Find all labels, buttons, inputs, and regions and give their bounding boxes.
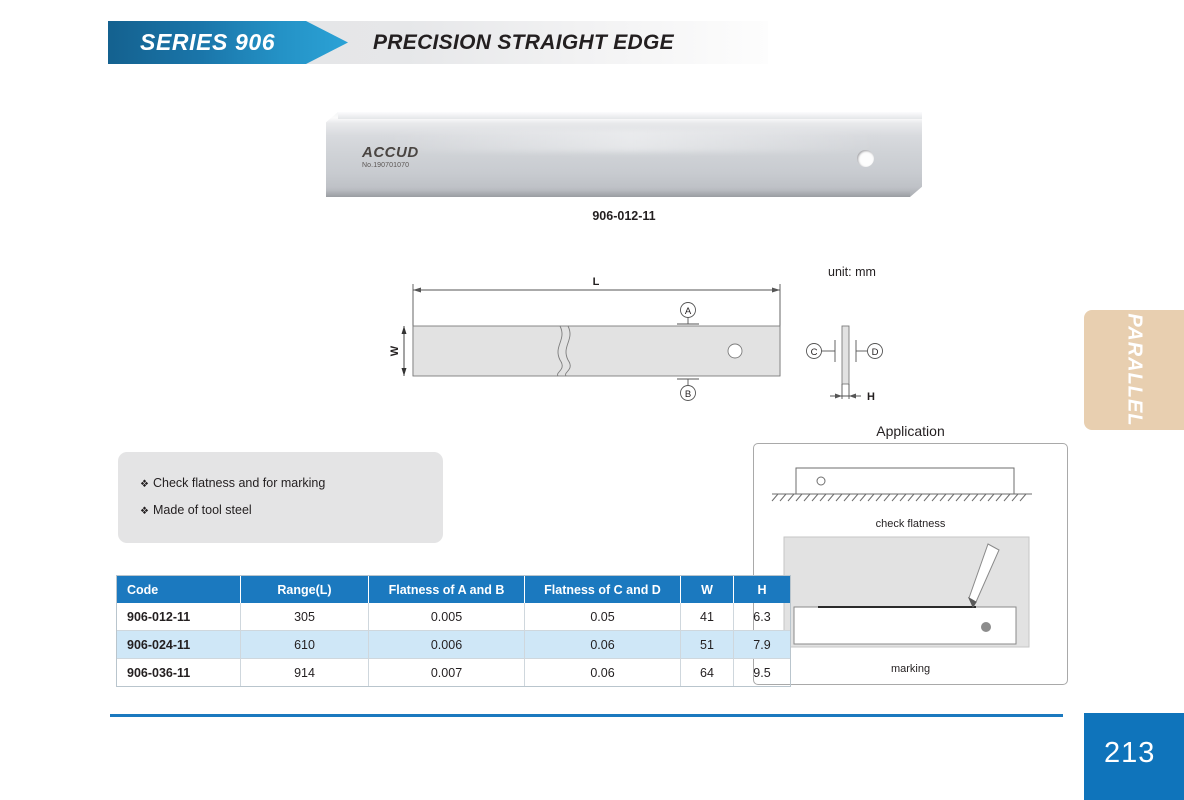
features-box: ❖Check flatness and for marking ❖Made of…	[118, 452, 443, 543]
front-view-hole	[728, 344, 742, 358]
feature-item: ❖Check flatness and for marking	[140, 476, 325, 490]
application-box: check flatness marking	[753, 443, 1068, 685]
table-header-cell: Range(L)	[241, 576, 369, 603]
callout-a: A	[677, 303, 699, 325]
table-cell-flatness-cd: 0.06	[525, 659, 681, 687]
table-header-cell: W	[681, 576, 734, 603]
table-cell-range: 305	[241, 603, 369, 631]
width-arrow-top	[402, 326, 407, 334]
product-photo: ACCUD No.190701070	[326, 112, 922, 197]
table-header-cell: H	[734, 576, 791, 603]
table-header-row: Code Range(L) Flatness of A and B Flatne…	[117, 576, 790, 603]
table-cell-w: 51	[681, 631, 734, 659]
application-title: Application	[753, 423, 1068, 439]
series-label: SERIES 906	[140, 21, 275, 64]
table-cell-flatness-ab: 0.005	[369, 603, 525, 631]
feature-text: Check flatness and for marking	[153, 476, 325, 490]
side-tab-label: PARALLEL	[1123, 313, 1146, 426]
marking-diagram	[784, 537, 1029, 647]
table-cell-code: 906-012-11	[117, 603, 241, 631]
front-view-body	[413, 326, 780, 376]
callout-d: D	[856, 340, 883, 362]
table-row: 906-024-11 610 0.006 0.06 51 7.9	[117, 631, 790, 659]
footer-rule	[110, 714, 1063, 717]
table-cell-h: 6.3	[734, 603, 791, 631]
technical-drawing: L W A B C D	[390, 258, 910, 423]
table-row: 906-036-11 914 0.007 0.06 64 9.5	[117, 659, 790, 687]
table-cell-w: 64	[681, 659, 734, 687]
table-header-cell: Code	[117, 576, 241, 603]
table-header-cell: Flatness of C and D	[525, 576, 681, 603]
page-title: PRECISION STRAIGHT EDGE	[373, 21, 674, 64]
callout-b: B	[677, 379, 699, 401]
width-label: W	[390, 345, 401, 356]
page-number-box: 213	[1084, 713, 1184, 800]
table-cell-range: 914	[241, 659, 369, 687]
length-arrow-left	[413, 288, 421, 293]
feature-item: ❖Made of tool steel	[140, 503, 252, 517]
straight-edge-sheen	[381, 130, 881, 152]
feature-text: Made of tool steel	[153, 503, 252, 517]
page-number: 213	[1104, 737, 1155, 770]
table-cell-code: 906-036-11	[117, 659, 241, 687]
side-view-body	[842, 326, 849, 384]
callout-c: C	[807, 340, 836, 362]
table-row: 906-012-11 305 0.005 0.05 41 6.3	[117, 603, 790, 631]
straight-edge-top-bevel	[338, 112, 922, 119]
table-cell-flatness-ab: 0.007	[369, 659, 525, 687]
table-cell-flatness-ab: 0.006	[369, 631, 525, 659]
application-caption: check flatness	[754, 518, 1067, 530]
callout-d-label: D	[872, 347, 879, 358]
brand-block: ACCUD No.190701070	[362, 145, 419, 169]
length-arrow-right	[772, 288, 780, 293]
product-caption: 906-012-11	[326, 209, 922, 223]
table-cell-code: 906-024-11	[117, 631, 241, 659]
brand-serial-number: No.190701070	[362, 162, 419, 169]
straight-edge-bottom-bevel	[326, 191, 910, 197]
table-cell-h: 9.5	[734, 659, 791, 687]
table-cell-w: 41	[681, 603, 734, 631]
application-diagrams	[754, 444, 1065, 682]
callout-b-label: B	[685, 389, 691, 400]
table-cell-h: 7.9	[734, 631, 791, 659]
specification-table: Code Range(L) Flatness of A and B Flatne…	[117, 576, 790, 686]
brand-name: ACCUD	[362, 145, 419, 160]
height-label: H	[867, 391, 875, 403]
application-caption: marking	[754, 663, 1067, 675]
width-arrow-bottom	[402, 368, 407, 376]
height-dimension: H	[830, 384, 875, 403]
callout-c-label: C	[811, 347, 818, 358]
diamond-bullet-icon: ❖	[140, 479, 153, 490]
side-tab-parallel: PARALLEL	[1084, 310, 1184, 430]
check-flatness-diagram	[772, 468, 1032, 501]
header-banner: SERIES 906 PRECISION STRAIGHT EDGE	[108, 21, 768, 64]
table-header-cell: Flatness of A and B	[369, 576, 525, 603]
unit-label: unit: mm	[828, 265, 876, 279]
table-cell-range: 610	[241, 631, 369, 659]
callout-a-label: A	[685, 306, 692, 317]
hanging-hole	[857, 150, 874, 167]
table-cell-flatness-cd: 0.06	[525, 631, 681, 659]
diamond-bullet-icon: ❖	[140, 506, 153, 517]
table-cell-flatness-cd: 0.05	[525, 603, 681, 631]
length-label: L	[593, 276, 600, 288]
